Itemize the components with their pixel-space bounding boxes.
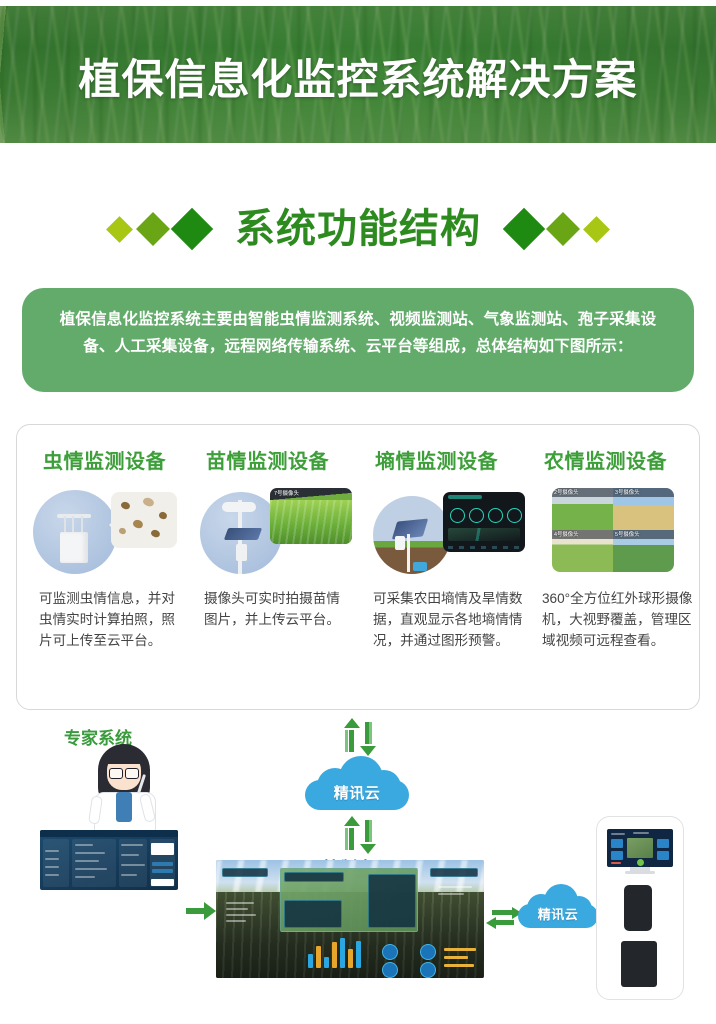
intro-text: 植保信息化监控系统主要由智能虫情监测系统、视频监测站、气象监测站、孢子采集设备、…	[56, 306, 660, 360]
diamond-group-right	[503, 214, 612, 244]
device-card-insect[interactable]: 虫情监测设备	[17, 425, 188, 711]
diamond-icon	[106, 216, 133, 243]
expert-avatar	[78, 740, 170, 832]
soil-dashboard-panel	[443, 492, 525, 552]
video-cell: 5号摄像头	[613, 530, 674, 572]
diamond-icon	[583, 216, 610, 243]
device-card-seedling[interactable]: 苗情监测设备 7号摄像头 摄像头可实时拍摄苗情图片，并上传云平台。	[188, 425, 359, 711]
page-title: 植保信息化监控系统解决方案	[0, 56, 716, 104]
video-grid-illustration: 2号摄像头 3号摄像头 4号摄像头 5号摄像头	[540, 484, 693, 580]
camera-pole-illustration: 7号摄像头	[198, 484, 351, 580]
card-title: 农情监测设备	[544, 445, 701, 474]
tablet-icon	[621, 941, 657, 987]
phone-icon	[624, 885, 652, 931]
header-banner: 植保信息化监控系统解决方案	[0, 6, 716, 143]
soil-station-illustration	[369, 484, 522, 580]
arrow-up-icon	[344, 722, 360, 752]
arrow-down-icon	[360, 722, 376, 752]
card-description: 摄像头可实时拍摄苗情图片，并上传云平台。	[204, 588, 353, 630]
arrow-up-icon	[344, 820, 360, 850]
diamond-icon	[546, 212, 580, 246]
arrow-right-icon	[186, 904, 216, 918]
arrow-double-right-icon	[486, 908, 520, 928]
device-card-soil[interactable]: 墒情监测设备	[359, 425, 530, 711]
cloud-top: 精讯云	[305, 756, 409, 814]
insect-trap-illustration	[27, 484, 180, 580]
poster-page: 植保信息化监控系统解决方案 系统功能结构 植保信息化监控系统主要由智能虫情监测系…	[0, 0, 716, 1024]
card-description: 可采集农田墒情及旱情数据，直观显示各地墒情情况，并通过图形预警。	[373, 588, 524, 651]
device-cards-row: 虫情监测设备	[17, 425, 701, 711]
video-label: 5号摄像头	[615, 530, 640, 538]
diamond-group-left	[104, 214, 213, 244]
seedling-video-thumb: 7号摄像头	[270, 488, 352, 544]
video-label: 7号摄像头	[274, 489, 299, 497]
card-description: 可监测虫情信息，并对虫情实时计算拍照，照片可上传至云平台。	[39, 588, 182, 651]
card-description: 360°全方位红外球形摄像机，大视野覆盖，管理区域视频可远程查看。	[542, 588, 695, 651]
card-title: 苗情监测设备	[206, 445, 359, 474]
video-cell: 2号摄像头	[552, 488, 613, 530]
section-title: 系统功能结构	[235, 206, 481, 252]
diamond-icon	[136, 212, 170, 246]
video-label: 2号摄像头	[554, 488, 579, 496]
monitor-icon	[607, 829, 673, 867]
cloud-label: 精讯云	[305, 782, 409, 803]
card-title: 虫情监测设备	[43, 445, 188, 474]
video-label: 4号摄像头	[554, 530, 579, 538]
control-center-dashboard	[216, 860, 484, 978]
expert-system-screen	[40, 830, 178, 890]
intro-box: 植保信息化监控系统主要由智能虫情监测系统、视频监测站、气象监测站、孢子采集设备、…	[22, 288, 694, 392]
card-title: 墒情监测设备	[375, 445, 530, 474]
arrow-down-icon	[360, 820, 376, 850]
camera-video-grid: 2号摄像头 3号摄像头 4号摄像头 5号摄像头	[552, 488, 674, 572]
client-devices-box	[596, 816, 684, 1000]
device-card-agriculture[interactable]: 农情监测设备 2号摄像头 3号摄像头 4号摄像头 5号摄像头 360°全方位红外…	[530, 425, 701, 711]
video-cell: 3号摄像头	[613, 488, 674, 530]
video-cell: 4号摄像头	[552, 530, 613, 572]
cloud-label: 精讯云	[518, 904, 598, 923]
video-label: 3号摄像头	[615, 488, 640, 496]
diamond-icon	[503, 208, 545, 250]
device-cards-panel: 虫情监测设备	[16, 424, 700, 710]
system-flow-diagram: 精讯云 控制中心 专家系统	[0, 712, 716, 1024]
section-title-row: 系统功能结构	[0, 192, 716, 266]
diamond-icon	[171, 208, 213, 250]
